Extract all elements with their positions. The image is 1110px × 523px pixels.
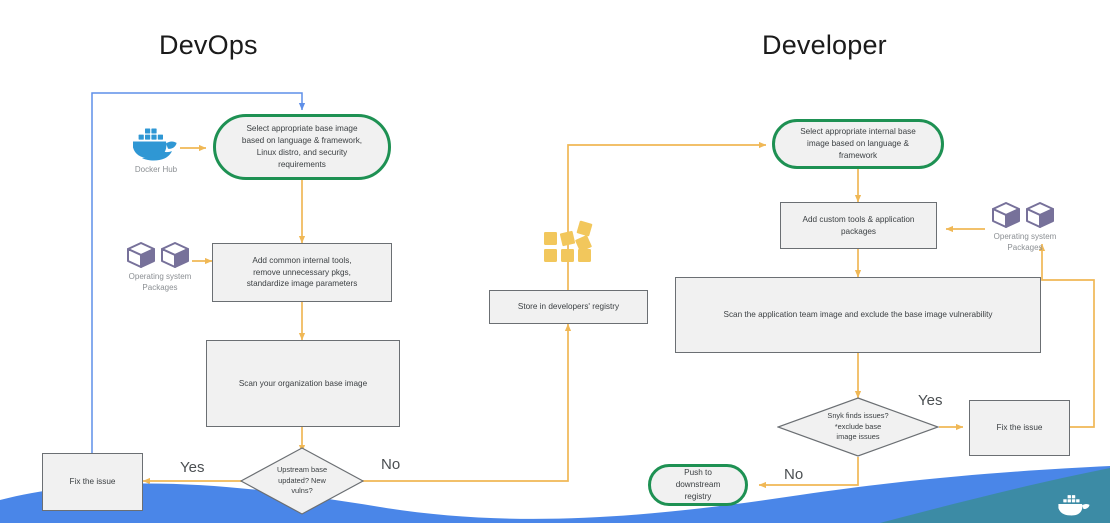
docker-hub-caption: Docker Hub [135, 165, 177, 176]
os-packages-icon [989, 200, 1061, 230]
node-select-base-image[interactable]: Select appropriate base image based on l… [213, 114, 391, 180]
sticky-notes-icon [541, 220, 597, 270]
diagram-canvas: DevOps Developer Docker Hub [0, 0, 1110, 523]
node-add-custom-tools-label: Add custom tools & application packages [803, 214, 915, 238]
edge-label-upstream-yes: Yes [180, 459, 204, 476]
wave-teal-band [880, 468, 1110, 523]
node-upstream-decision[interactable]: Upstream base updated? New vulns? [240, 447, 364, 515]
node-fix-the-issue-devops-label: Fix the issue [70, 476, 116, 488]
node-scan-org-base-image-label: Scan your organization base image [239, 378, 367, 390]
node-scan-org-base-image[interactable]: Scan your organization base image [206, 340, 400, 427]
node-scan-app-team-image-label: Scan the application team image and excl… [724, 309, 993, 321]
node-select-base-image-label: Select appropriate base image based on l… [242, 123, 362, 171]
os-packages-caption-devops: Operating system Packages [129, 272, 192, 294]
node-fix-the-issue-developer[interactable]: Fix the issue [969, 400, 1070, 456]
node-push-downstream[interactable]: Push to downstream registry [648, 464, 748, 506]
os-packages-icon-group-developer: Operating system Packages [985, 200, 1065, 254]
node-fix-the-issue-developer-label: Fix the issue [997, 422, 1043, 434]
node-store-registry-label: Store in developers' registry [518, 301, 619, 313]
edge-label-snyk-no: No [784, 466, 803, 483]
os-packages-icon [124, 240, 196, 270]
sticky-notes-icon-group [540, 220, 598, 272]
node-add-internal-tools[interactable]: Add common internal tools, remove unnece… [212, 243, 392, 302]
edge-label-snyk-yes: Yes [918, 392, 942, 409]
node-snyk-decision[interactable]: Snyk finds issues? *exclude base image i… [777, 397, 939, 457]
os-packages-caption-developer: Operating system Packages [994, 232, 1057, 254]
docker-whale-icon [1056, 494, 1096, 520]
node-scan-app-team-image[interactable]: Scan the application team image and excl… [675, 277, 1041, 353]
lane-title-devops: DevOps [159, 30, 258, 61]
node-select-internal-base-image[interactable]: Select appropriate internal base image b… [772, 119, 944, 169]
node-add-custom-tools[interactable]: Add custom tools & application packages [780, 202, 937, 249]
os-packages-icon-group-devops: Operating system Packages [120, 240, 200, 294]
edge-label-upstream-no: No [381, 456, 400, 473]
lane-title-developer: Developer [762, 30, 887, 61]
edge-snyk-no-to-push [759, 457, 858, 485]
wave-light-band [0, 466, 1110, 523]
node-fix-the-issue-devops[interactable]: Fix the issue [42, 453, 143, 511]
node-select-internal-base-image-label: Select appropriate internal base image b… [800, 126, 916, 162]
docker-hub-icon [130, 125, 182, 163]
node-push-downstream-label: Push to downstream registry [676, 467, 721, 503]
node-store-registry[interactable]: Store in developers' registry [489, 290, 648, 324]
node-upstream-decision-label: Upstream base updated? New vulns? [240, 447, 364, 515]
node-add-internal-tools-label: Add common internal tools, remove unnece… [247, 255, 358, 291]
node-snyk-decision-label: Snyk finds issues? *exclude base image i… [777, 397, 939, 457]
docker-hub-icon-group: Docker Hub [128, 125, 184, 176]
